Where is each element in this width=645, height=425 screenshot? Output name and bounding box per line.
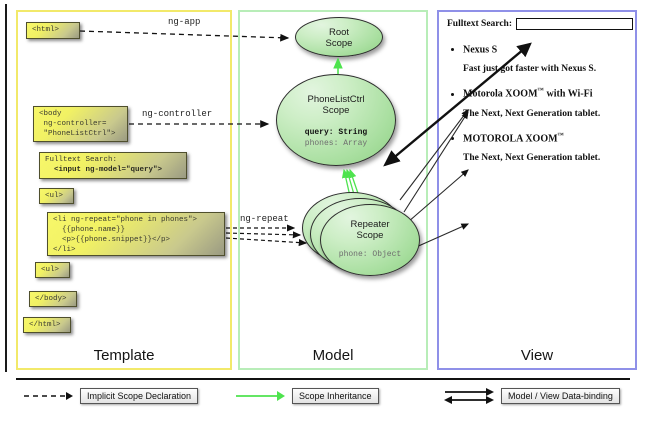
ellipse-repeater-scope: Repeater Scope phone: Object — [320, 204, 420, 276]
label-ng-controller: ng-controller — [142, 109, 212, 119]
phone-snippet: The Next, Next Generation tablet. — [463, 153, 633, 163]
legend-label-model-view-data-binding: Model / View Data-binding — [501, 388, 620, 404]
list-item[interactable]: Nexus S Fast just got faster with Nexus … — [463, 43, 633, 74]
list-item[interactable]: MOTOROLA XOOM™ The Next, Next Generation… — [463, 132, 633, 163]
phonelistctrl-prop-phones: phones: Array — [277, 139, 395, 149]
legend-label-implicit-scope-declaration: Implicit Scope Declaration — [80, 388, 198, 404]
phone-name: Motorola XOOM — [463, 89, 538, 100]
double-arrow-icon — [443, 387, 495, 405]
phone-name: Nexus S — [463, 44, 497, 55]
code-box-li-repeat: <li ng-repeat="phone in phones"> {{phone… — [47, 212, 225, 256]
panel-model: Model — [238, 10, 428, 370]
code-box-html-close: </html> — [23, 317, 71, 333]
code-box-html-open: <html> — [26, 22, 80, 39]
legend-label-scope-inheritance: Scope Inheritance — [292, 388, 379, 404]
legend-item-model-view-data-binding: Model / View Data-binding — [443, 387, 620, 405]
phonelistctrl-title-line2: Scope — [277, 105, 395, 116]
phone-name-suffix: with Wi-Fi — [544, 89, 593, 100]
panel-view-title: View — [439, 347, 635, 364]
trademark-icon: ™ — [558, 132, 565, 139]
angular-scope-diagram: Template Model View <html> <body ng-cont… — [0, 0, 645, 425]
code-box-ul-close: <ul> — [35, 262, 70, 278]
search-snippet-line1: Fulltext Search: — [45, 156, 117, 164]
legend-item-implicit-scope-declaration: Implicit Scope Declaration — [22, 387, 198, 405]
code-box-search-input: Fulltext Search: <input ng-model="query"… — [39, 152, 187, 179]
ellipse-phonelistctrl-scope: PhoneListCtrl Scope query: String phones… — [276, 74, 396, 166]
repeater-prop-phone: phone: Object — [321, 250, 419, 260]
view-rendered-page: Fulltext Search: Nexus S Fast just got f… — [447, 18, 633, 163]
label-ng-app: ng-app — [168, 17, 200, 27]
root-scope-title-line2: Scope — [296, 38, 382, 49]
repeater-title-line1: Repeater — [321, 205, 419, 230]
legend-item-scope-inheritance: Scope Inheritance — [234, 387, 379, 405]
code-box-body-close: </body> — [29, 291, 77, 307]
green-arrow-icon — [234, 387, 286, 405]
phone-list: Nexus S Fast just got faster with Nexus … — [447, 43, 633, 163]
left-edge-rule — [5, 4, 7, 372]
ellipse-root-scope: Root Scope — [295, 17, 383, 57]
phone-snippet: Fast just got faster with Nexus S. — [463, 64, 633, 74]
label-ng-repeat: ng-repeat — [240, 214, 289, 224]
code-box-ul-open: <ul> — [39, 188, 74, 204]
phonelistctrl-prop-query: query: String — [277, 128, 395, 138]
view-search-label: Fulltext Search: — [447, 19, 512, 29]
panel-model-title: Model — [240, 347, 426, 364]
view-search-row: Fulltext Search: — [447, 18, 633, 30]
root-scope-title-line1: Root — [296, 18, 382, 38]
phone-snippet: The Next, Next Generation tablet. — [463, 109, 633, 119]
list-item[interactable]: Motorola XOOM™ with Wi-Fi The Next, Next… — [463, 87, 633, 118]
phone-name: MOTOROLA XOOM — [463, 133, 558, 144]
code-box-body-tag: <body ng-controller= "PhoneListCtrl"> — [33, 106, 128, 142]
dashed-arrow-icon — [22, 387, 74, 405]
panel-template-title: Template — [18, 347, 230, 364]
fulltext-search-input[interactable] — [516, 18, 633, 30]
phonelistctrl-title-line1: PhoneListCtrl — [277, 75, 395, 105]
legend-divider — [16, 378, 630, 380]
repeater-title-line2: Scope — [321, 230, 419, 241]
search-snippet-line2: <input ng-model="query"> — [45, 166, 162, 174]
